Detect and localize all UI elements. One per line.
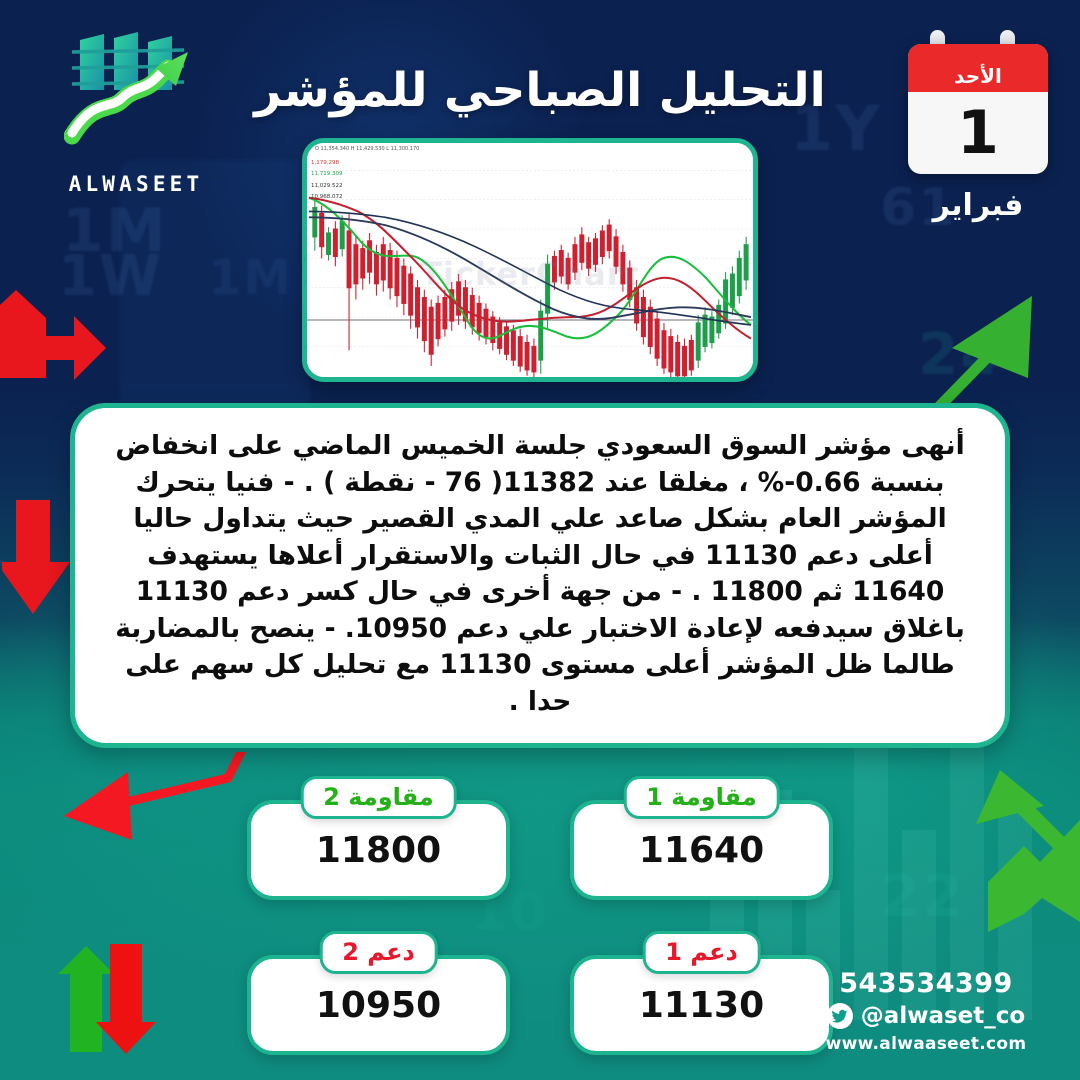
calendar-widget: الأحد 1 فبراير	[898, 30, 1058, 245]
red-angled-arrow-icon	[58, 752, 248, 872]
brand-name: ALWASEET	[56, 172, 216, 196]
up-down-arrows-bottom-left-icon	[44, 930, 174, 1060]
level-card-support-2[interactable]: 10950 دعم 2	[247, 931, 510, 1055]
calendar-day-number: 1	[908, 92, 1048, 174]
chart-price-label-2: 11,719.309	[311, 171, 343, 177]
green-up-arrow-bottom-right-icon	[968, 762, 1080, 932]
chart-price-label-4: 10,968.072	[311, 194, 343, 200]
brand-logo: ALWASEET	[56, 28, 216, 198]
calendar-card: الأحد 1	[908, 44, 1048, 174]
level-tag: مقاومة 2	[300, 776, 457, 819]
level-value: 11640	[639, 830, 764, 871]
alwaseet-bars-arrow-logo-icon	[64, 28, 204, 146]
price-chart-card[interactable]: O 11,354.340 H 11,429.530 L 11,300.170 1…	[302, 138, 758, 382]
level-value: 10950	[316, 985, 441, 1026]
level-value: 11800	[316, 830, 441, 871]
poster-canvas: 1Y 1M 1W 1M 61 24 22 10	[0, 0, 1080, 1080]
watermark-1m-2: 1M	[208, 250, 293, 306]
chart-ohlc-label: O 11,354.340 H 11,429.530 L 11,300.170	[315, 146, 419, 152]
calendar-weekday: الأحد	[908, 44, 1048, 92]
calendar-month: فبراير	[898, 188, 1058, 223]
chart-watermark: TickerChart	[420, 255, 640, 293]
contact-block: 543534399 @alwaset_co www.alwaaseet.com	[796, 968, 1056, 1054]
analysis-panel: أنهى مؤشر السوق السعودي جلسة الخميس الما…	[70, 403, 1010, 748]
contact-handle: @alwaset_co	[861, 1003, 1025, 1029]
red-down-arrow-top-left-icon	[0, 290, 106, 395]
level-tag: مقاومة 1	[623, 776, 780, 819]
red-down-arrow-left-icon	[2, 500, 72, 618]
chart-price-label-3: 11,029.522	[311, 183, 343, 189]
green-up-arrow-right-icon	[930, 292, 1060, 412]
contact-website[interactable]: www.alwaaseet.com	[796, 1034, 1056, 1054]
level-card-support-1[interactable]: 11130 دعم 1	[570, 931, 833, 1055]
contact-handle-row[interactable]: @alwaset_co	[796, 1003, 1056, 1029]
page-title: التحليل الصباحي للمؤشر	[250, 50, 830, 130]
analysis-text: أنهى مؤشر السوق السعودي جلسة الخميس الما…	[109, 428, 971, 721]
level-tag: دعم 1	[642, 931, 761, 974]
level-tag: دعم 2	[319, 931, 438, 974]
level-value: 11130	[639, 985, 764, 1026]
twitter-bird-icon	[827, 1003, 853, 1029]
level-card-resistance-1[interactable]: 11640 مقاومة 1	[570, 776, 833, 900]
chart-price-label-1: 1,179.298	[311, 160, 339, 166]
contact-phone[interactable]: 543534399	[796, 968, 1056, 999]
level-card-resistance-2[interactable]: 11800 مقاومة 2	[247, 776, 510, 900]
